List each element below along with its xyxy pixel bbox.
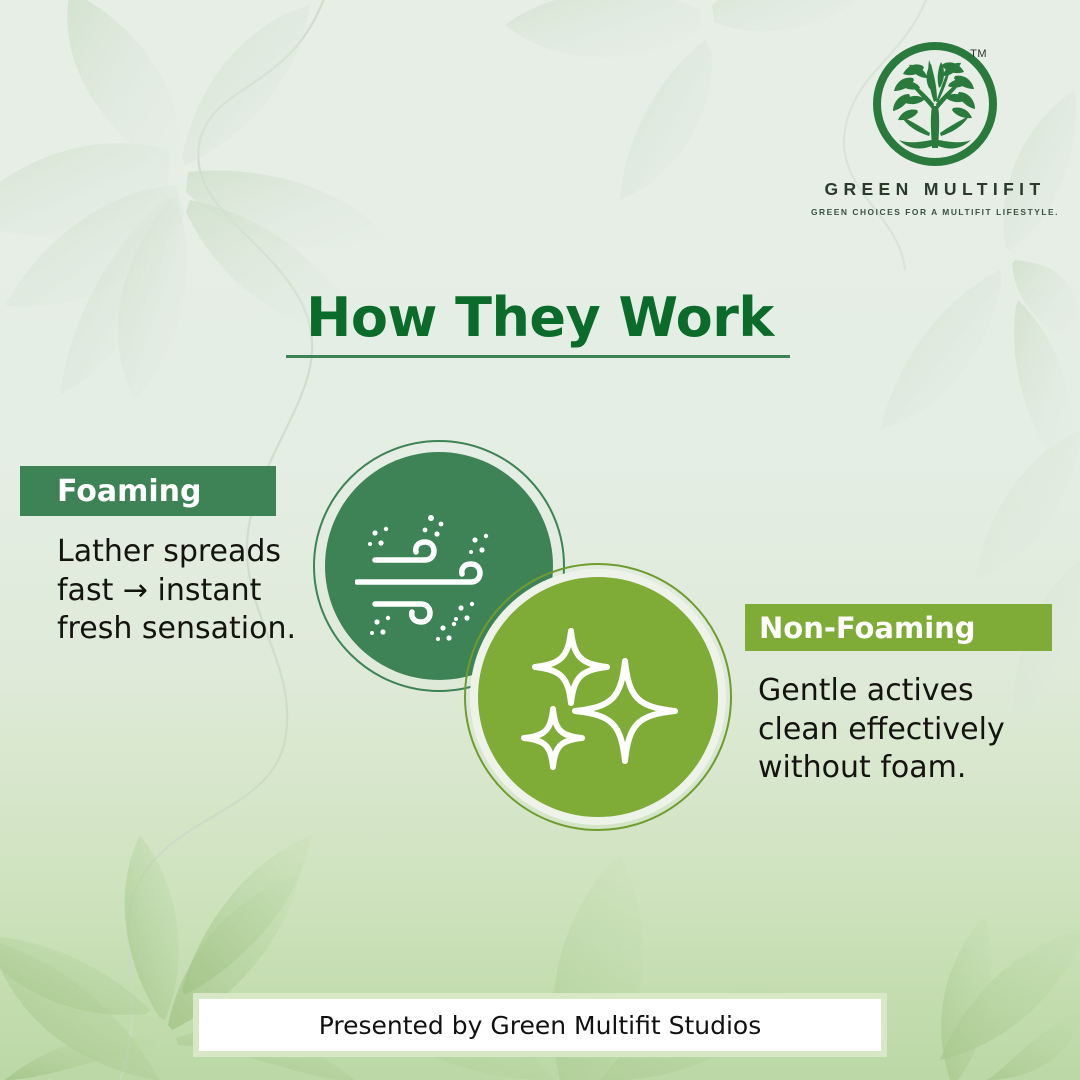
badge-non-foaming-label: Non-Foaming [759, 611, 976, 645]
sparkles-icon [507, 617, 689, 785]
badge-foaming[interactable]: Foaming [20, 466, 276, 516]
poster-canvas: TM GREEN MULTIFIT GREEN CHOICES FOR A MU… [0, 0, 1080, 1080]
foaming-description: Lather spreads fast → instant fresh sens… [57, 533, 307, 649]
badge-non-foaming[interactable]: Non-Foaming [745, 604, 1052, 651]
non-foaming-description: Gentle actives clean effectively without… [758, 672, 1058, 788]
badge-foaming-label: Foaming [57, 474, 202, 509]
footer-text: Presented by Green Multifit Studios [199, 999, 881, 1051]
footer-banner: Presented by Green Multifit Studios [193, 993, 887, 1057]
